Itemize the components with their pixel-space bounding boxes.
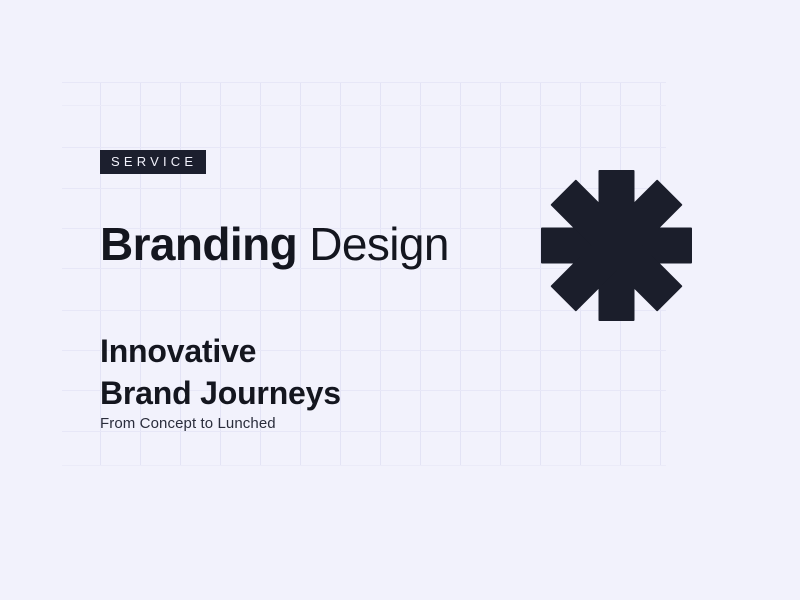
subheadline-line-1: Innovative <box>100 330 341 372</box>
grid-line-horizontal-2 <box>62 147 666 148</box>
grid-line-vertical-10 <box>500 82 501 466</box>
grid-line-vertical-9 <box>460 82 461 466</box>
page-title-light: Design <box>297 218 449 270</box>
subheadline-line-2: Brand Journeys <box>100 372 341 414</box>
page-title-strong: Branding <box>100 218 297 270</box>
page-title: Branding Design <box>100 216 449 272</box>
grid-line-horizontal-10 <box>62 465 666 466</box>
service-card-canvas: SERVICE Branding Design Innovative Brand… <box>0 0 800 600</box>
tagline: From Concept to Lunched <box>100 414 276 434</box>
grid-line-vertical-7 <box>380 82 381 466</box>
subheadline: Innovative Brand Journeys <box>100 330 341 414</box>
asterisk-starburst-icon <box>541 170 692 321</box>
grid-line-horizontal-1 <box>62 105 666 106</box>
service-badge: SERVICE <box>100 150 206 174</box>
grid-line-horizontal-0 <box>62 82 666 83</box>
grid-line-vertical-8 <box>420 82 421 466</box>
